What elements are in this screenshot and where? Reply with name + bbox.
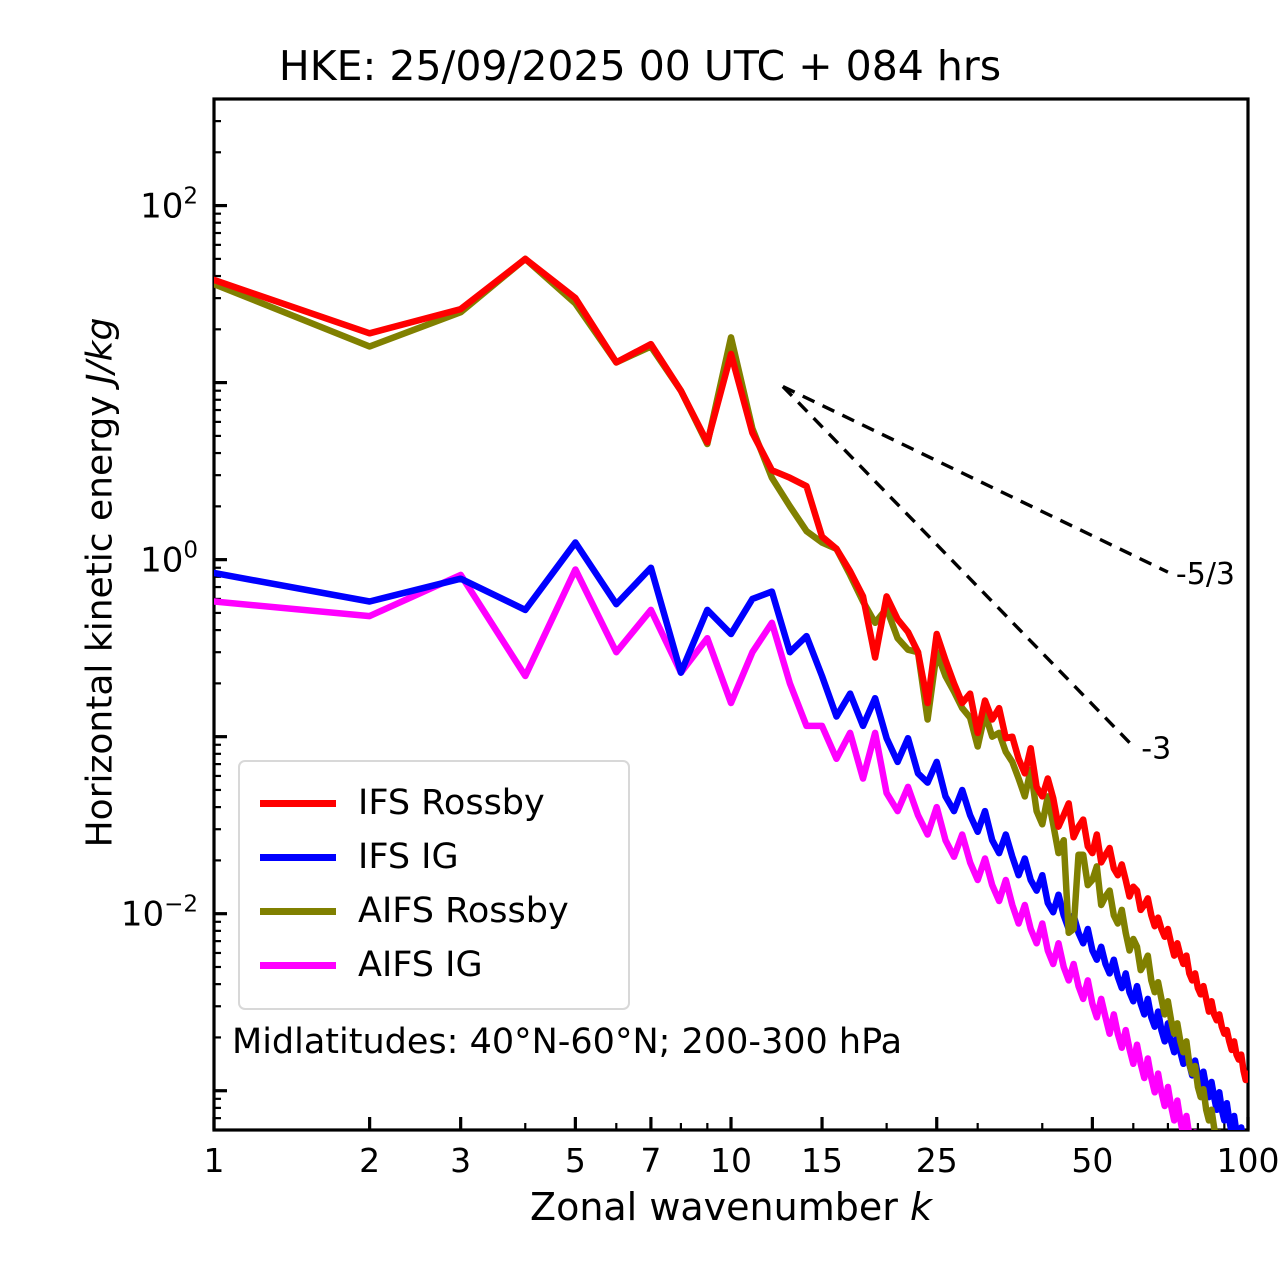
figure-root: HKE: 25/09/2025 00 UTC + 084 hrs Horizon… bbox=[0, 0, 1280, 1288]
x-tick-label: 15 bbox=[801, 1141, 843, 1180]
plot-area: 123571015255010010210010−2 -5/3-3 bbox=[0, 0, 1280, 1288]
x-tick-label: 3 bbox=[450, 1141, 471, 1180]
reference-line--5-3 bbox=[783, 387, 1168, 573]
series-line-aifs-rossby bbox=[214, 259, 1248, 1232]
x-tick-label: 7 bbox=[640, 1141, 661, 1180]
x-tick-label: 25 bbox=[916, 1141, 958, 1180]
x-tick-label: 50 bbox=[1071, 1141, 1113, 1180]
x-tick-label: 5 bbox=[565, 1141, 586, 1180]
reference-line-label: -5/3 bbox=[1176, 557, 1235, 592]
legend-label-ifs-rossby: IFS Rossby bbox=[358, 786, 545, 821]
legend-swatch-aifs-ig bbox=[260, 962, 336, 969]
region-annotation: Midlatitudes: 40°N-60°N; 200-300 hPa bbox=[232, 1022, 902, 1062]
reference-line-label: -3 bbox=[1141, 731, 1171, 766]
legend-swatch-ifs-ig bbox=[260, 854, 336, 861]
x-tick-label: 2 bbox=[359, 1141, 380, 1180]
legend-swatch-ifs-rossby bbox=[260, 800, 336, 807]
x-tick-label: 100 bbox=[1217, 1141, 1280, 1180]
y-tick-label: 100 bbox=[140, 538, 198, 581]
legend-item-ifs-rossby[interactable]: IFS Rossby bbox=[260, 776, 612, 830]
x-tick-label: 1 bbox=[204, 1141, 225, 1180]
x-tick-label: 10 bbox=[710, 1141, 752, 1180]
legend-item-aifs-rossby[interactable]: AIFS Rossby bbox=[260, 884, 612, 938]
legend[interactable]: IFS Rossby IFS IG AIFS Rossby AIFS IG bbox=[238, 760, 630, 1010]
legend-label-aifs-ig: AIFS IG bbox=[358, 948, 483, 983]
legend-label-aifs-rossby: AIFS Rossby bbox=[358, 894, 569, 929]
y-tick-label: 10−2 bbox=[121, 892, 198, 935]
legend-label-ifs-ig: IFS IG bbox=[358, 840, 459, 875]
y-tick-label: 102 bbox=[140, 184, 198, 227]
legend-item-ifs-ig[interactable]: IFS IG bbox=[260, 830, 612, 884]
legend-swatch-aifs-rossby bbox=[260, 908, 336, 915]
data-series-group bbox=[214, 259, 1248, 1232]
legend-item-aifs-ig[interactable]: AIFS IG bbox=[260, 938, 612, 992]
